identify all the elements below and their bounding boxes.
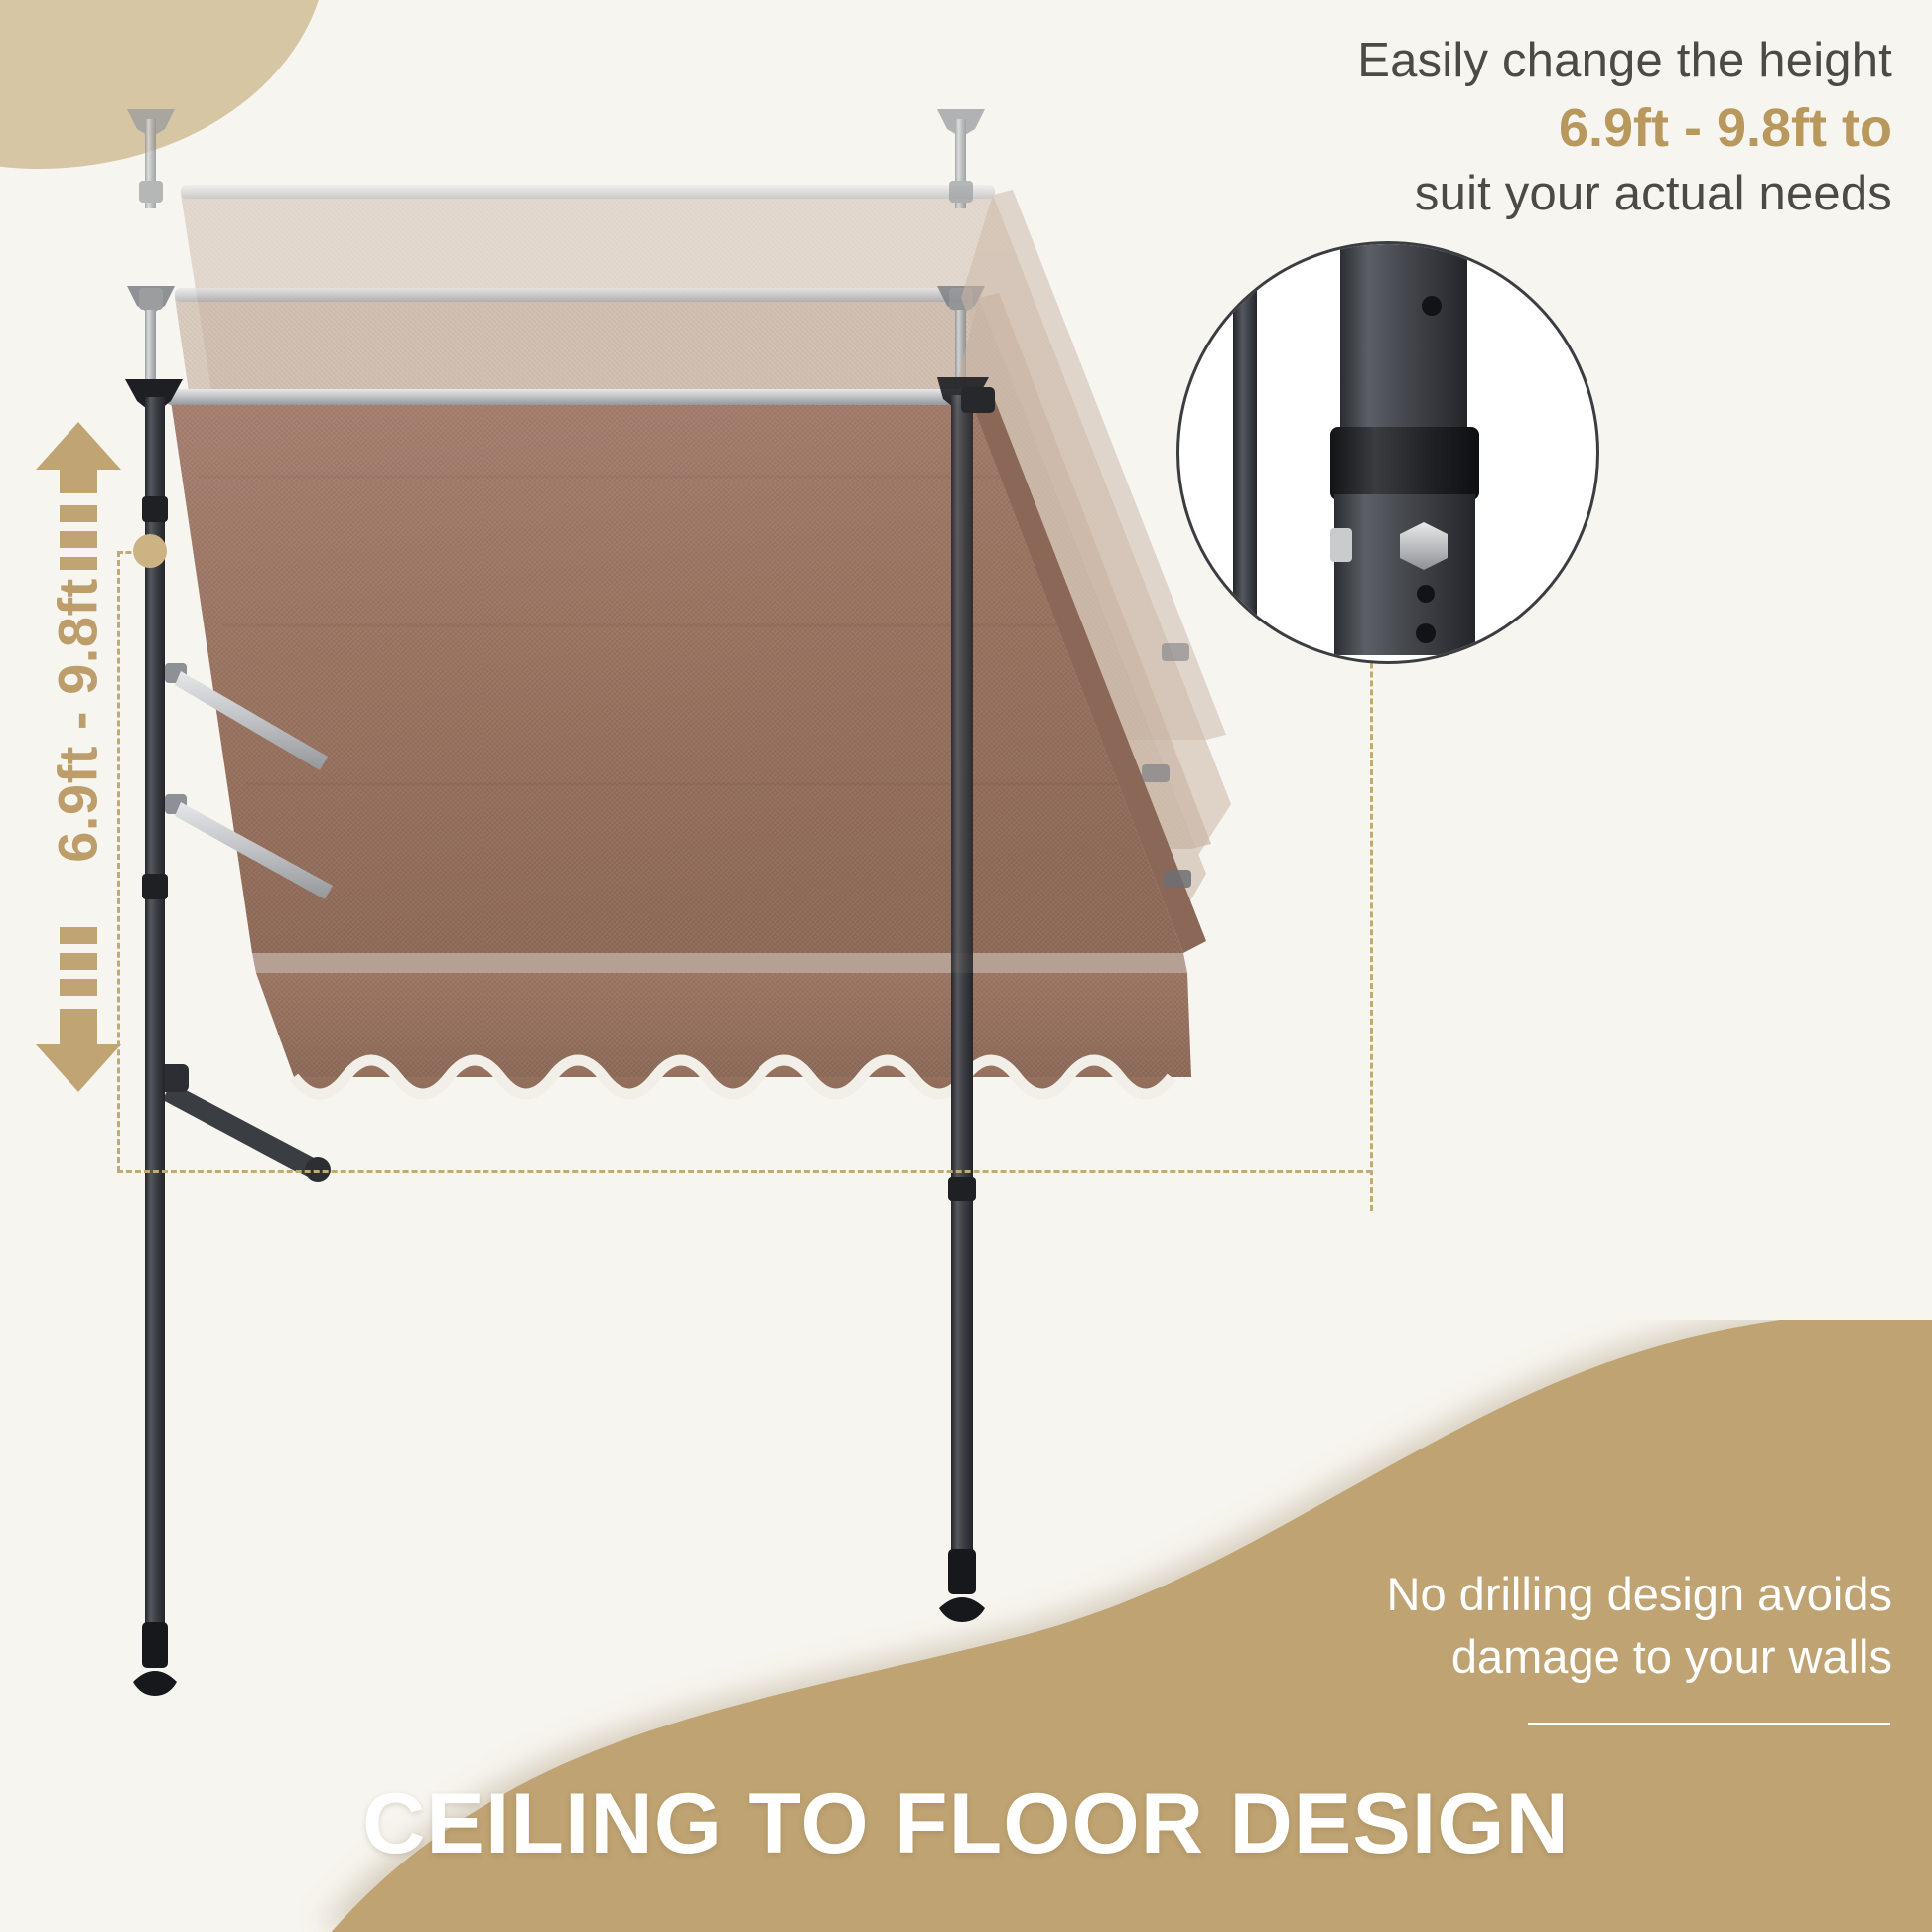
bottom-right-callout: No drilling design avoids damage to your… [1197, 1564, 1892, 1689]
pole-upper-tube [1340, 244, 1467, 439]
callout-divider-rule [1528, 1723, 1890, 1725]
adjustment-hole [1416, 623, 1436, 643]
pole-lower-tube [1334, 494, 1475, 655]
callout-line-3: suit your actual needs [1217, 163, 1892, 226]
top-right-callout: Easily change the height 6.9ft - 9.8ft t… [1217, 30, 1892, 226]
callout-height-range: 6.9ft - 9.8ft to [1217, 93, 1892, 163]
telescoping-pole-detail-inset [1176, 241, 1599, 664]
arrow-down-icon [36, 913, 121, 1092]
bolt-washer [1330, 528, 1352, 562]
no-drilling-line-2: damage to your walls [1197, 1626, 1892, 1689]
adjustment-hole [1422, 296, 1442, 316]
callout-line-1: Easily change the height [1217, 30, 1892, 93]
page-headline: CEILING TO FLOOR DESIGN [0, 1775, 1932, 1873]
height-measurement-rail: 6.9ft - 9.8ft [18, 422, 137, 1057]
locking-collar [1330, 427, 1479, 500]
height-range-label: 6.9ft - 9.8ft [46, 453, 110, 989]
thin-pole [1233, 244, 1257, 655]
adjustment-hole [1417, 585, 1435, 603]
product-infographic: 6.9ft - 9.8ft Easily change the height 6… [0, 0, 1932, 1932]
measurement-anchor-dot [133, 534, 167, 568]
no-drilling-line-1: No drilling design avoids [1197, 1564, 1892, 1626]
dashed-guide-bottom-horizontal [117, 1170, 1372, 1173]
